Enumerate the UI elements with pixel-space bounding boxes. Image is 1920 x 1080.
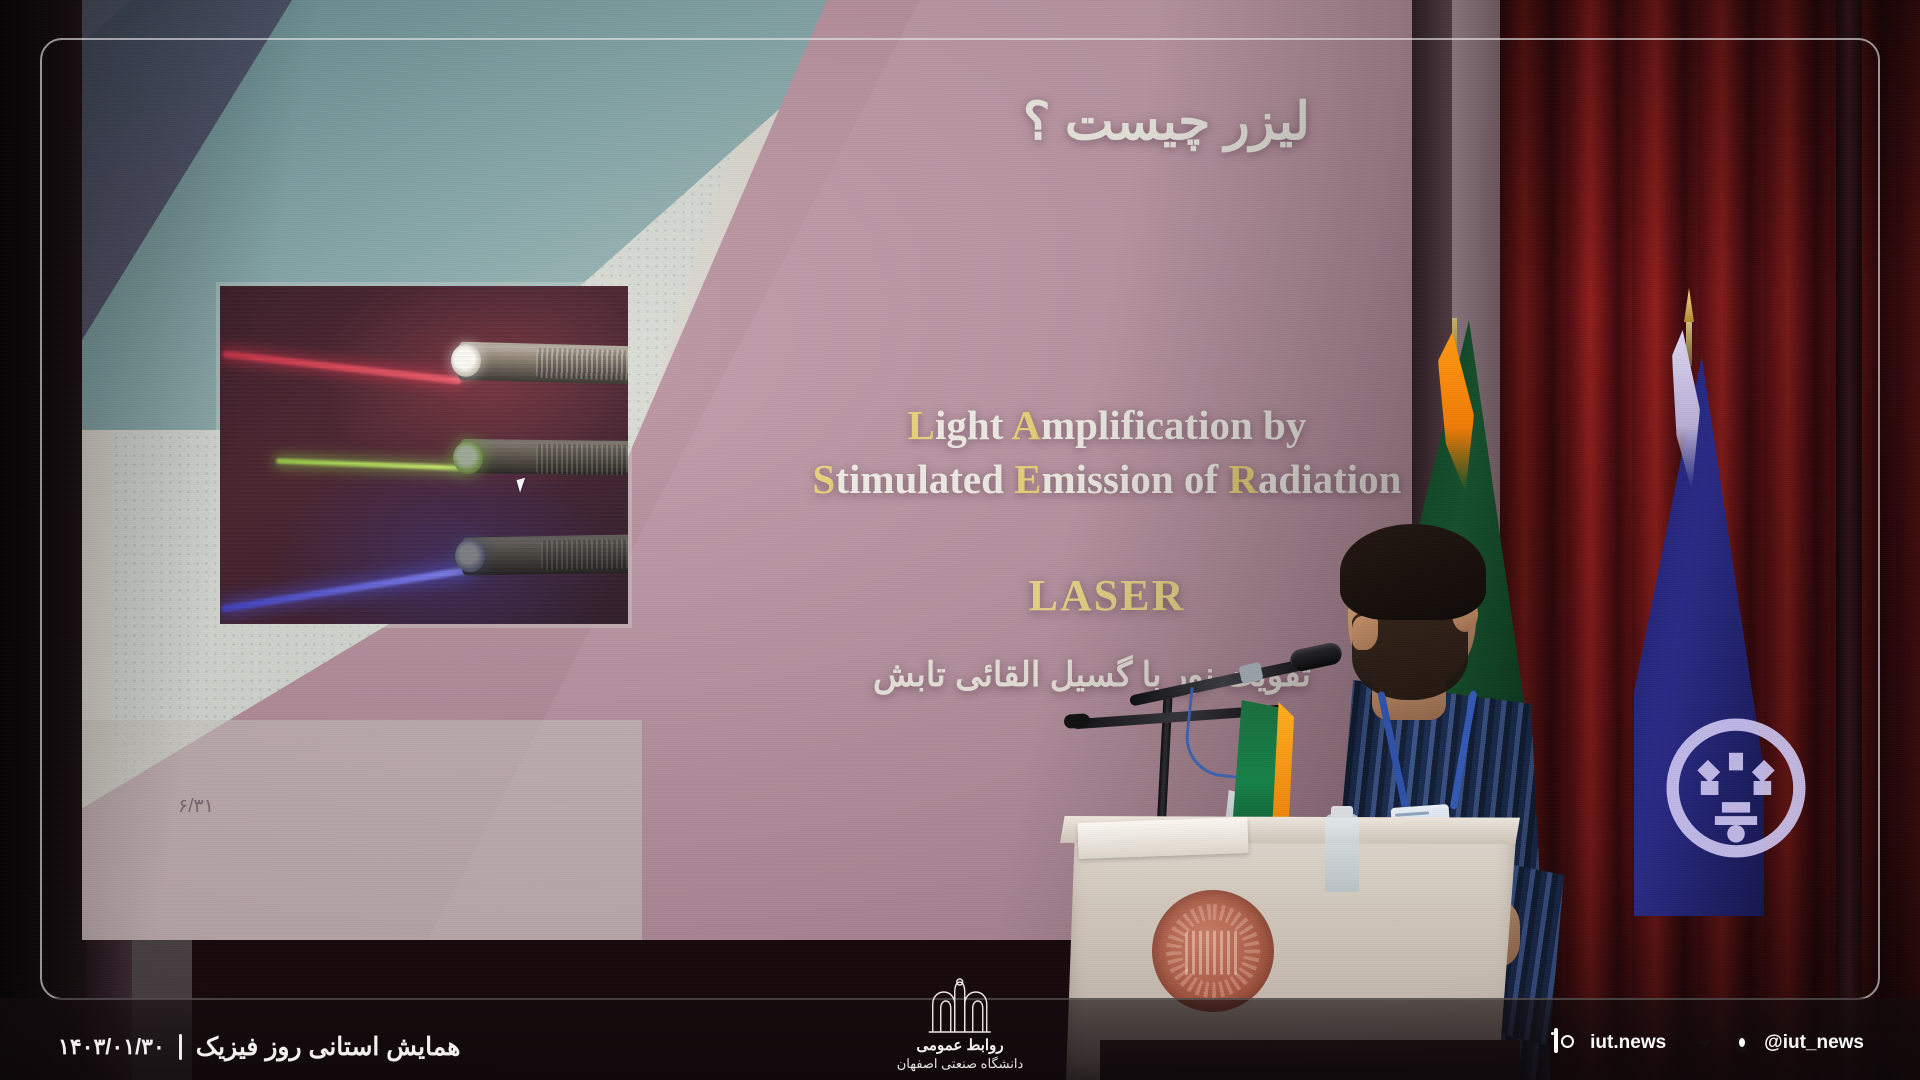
laser-image-noise (220, 286, 628, 624)
podium-papers (1077, 817, 1248, 859)
acronym-word-amplification: mplification by (1041, 402, 1306, 448)
acronym-line-1: Light Amplification by (787, 398, 1412, 452)
org-line-2: دانشگاه صنعتی اصفهان (897, 1056, 1024, 1072)
speaker-hair (1340, 524, 1486, 620)
footer-separator (179, 1034, 182, 1060)
projection-screen: لیزر چیست ؟ Light Amplification by Stimu… (82, 0, 1412, 940)
event-date: ۱۴۰۳/۰۱/۳۰ (58, 1034, 165, 1060)
laser-acronym-block: Light Amplification by Stimulated Emissi… (787, 398, 1412, 506)
curtain-gap (1836, 0, 1862, 1080)
water-bottle (1325, 814, 1359, 892)
telegram-icon[interactable] (1692, 1030, 1718, 1056)
event-info: همایش استانی روز فیزیک ۱۴۰۳/۰۱/۳۰ (58, 1032, 460, 1062)
instagram-icon[interactable] (1554, 1030, 1580, 1056)
acronym-letter-A: A (1011, 402, 1041, 448)
acronym-letter-R: R (1228, 456, 1258, 502)
laser-acronym-word: LASER (787, 570, 1412, 621)
acronym-word-emission: mission of (1042, 456, 1229, 502)
laser-pointers-image (220, 286, 628, 624)
conference-photo: لیزر چیست ؟ Light Amplification by Stimu… (0, 0, 1920, 1080)
speaker-nose (1352, 616, 1378, 650)
telegram-eitaa-handle[interactable]: @iut_news (1764, 1032, 1864, 1054)
slide-page-number: ۶/۳۱ (178, 795, 214, 818)
iut-arches-logo-icon (927, 978, 993, 1034)
acronym-word-radiation: adiation (1258, 456, 1402, 502)
iut-gear-logo-icon (1648, 700, 1824, 876)
slide-pale-band (82, 720, 642, 940)
org-line-1: روابط عمومی (897, 1036, 1024, 1054)
badge-text-line (1395, 811, 1429, 816)
podium-university-seal (1152, 890, 1274, 1012)
microphone-boom-cap (1064, 713, 1091, 729)
acronym-line-2: Stimulated Emission of Radiation (787, 452, 1412, 506)
acronym-letter-L: L (908, 402, 935, 448)
acronym-letter-E: E (1014, 456, 1041, 502)
eitaa-icon[interactable] (1728, 1030, 1754, 1056)
social-handles: iut.news @iut_news (1554, 1030, 1864, 1056)
slide-title: لیزر چیست ؟ (1023, 92, 1310, 152)
acronym-letter-S: S (813, 456, 836, 502)
instagram-handle[interactable]: iut.news (1590, 1032, 1666, 1054)
footer-banner: همایش استانی روز فیزیک ۱۴۰۳/۰۱/۳۰ روابط … (0, 998, 1920, 1080)
event-title: همایش استانی روز فیزیک (196, 1032, 461, 1062)
public-relations-logo-block: روابط عمومی دانشگاه صنعتی اصفهان (897, 978, 1024, 1072)
water-bottle-cap (1331, 806, 1353, 818)
seal-center-motif (1185, 931, 1241, 975)
acronym-word-stimulated: timulated (835, 456, 1014, 502)
acronym-word-light: ight (935, 402, 1011, 448)
